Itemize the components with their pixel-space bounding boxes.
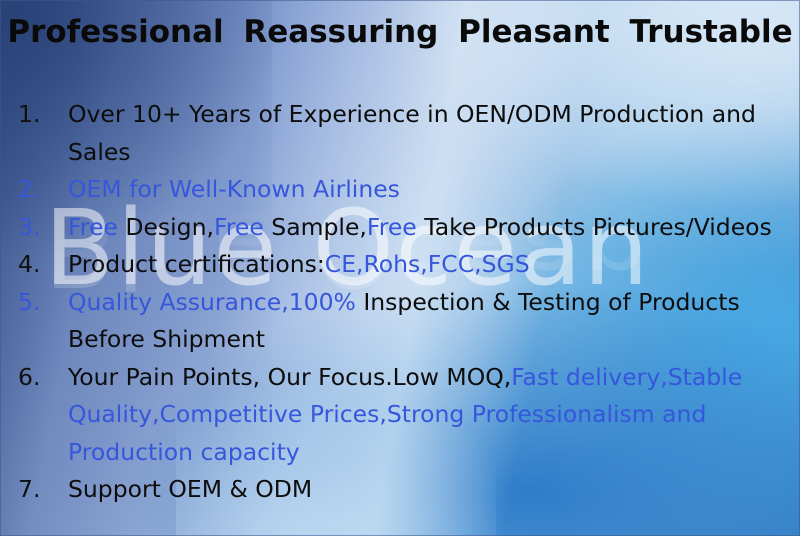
- list-item-text-segment: Free: [68, 213, 118, 241]
- list-item-number: 3.: [18, 209, 52, 247]
- list-item-text-segment: Take Products Pictures/Videos: [417, 213, 772, 241]
- list-item: 3.Free Design,Free Sample,Free Take Prod…: [0, 209, 800, 247]
- list-item: 7.Support OEM & ODM: [0, 471, 800, 509]
- list-item: 1.Over 10+ Years of Experience in OEN/OD…: [0, 96, 800, 171]
- list-item-text-segment: Sample,: [264, 213, 367, 241]
- list-item-text: Free Design,Free Sample,Free Take Produc…: [68, 213, 772, 241]
- list-item-number: 7.: [18, 471, 52, 509]
- list-item-text-segment: Quality Assurance,: [68, 288, 289, 316]
- presentation-slide: Blue Ocean Blue Ocean Professional Reass…: [0, 0, 800, 536]
- list-item-number: 4.: [18, 246, 52, 284]
- feature-list: 1.Over 10+ Years of Experience in OEN/OD…: [0, 96, 800, 509]
- list-item-text: Support OEM & ODM: [68, 475, 312, 503]
- list-item-text: Over 10+ Years of Experience in OEN/ODM …: [68, 100, 756, 166]
- list-item-text: Product certifications:CE,Rohs,FCC,SGS: [68, 250, 530, 278]
- list-item-number: 2.: [18, 171, 52, 209]
- list-item-text: OEM for Well-Known Airlines: [68, 175, 400, 203]
- list-item-text-segment: 100%: [289, 288, 356, 316]
- list-item-text-segment: Free: [214, 213, 264, 241]
- list-item-number: 1.: [18, 96, 52, 134]
- page-title: Professional Reassuring Pleasant Trustab…: [0, 14, 800, 50]
- list-item: 6.Your Pain Points, Our Focus.Low MOQ,Fa…: [0, 359, 800, 472]
- list-item: 2.OEM for Well-Known Airlines: [0, 171, 800, 209]
- list-item-text-segment: CE,Rohs,FCC,SGS: [325, 250, 530, 278]
- list-item: 5.Quality Assurance,100% Inspection & Te…: [0, 284, 800, 359]
- list-item: 4.Product certifications:CE,Rohs,FCC,SGS: [0, 246, 800, 284]
- slide-content: Professional Reassuring Pleasant Trustab…: [0, 0, 800, 536]
- list-item-text-segment: Design,: [118, 213, 214, 241]
- list-item-text: Quality Assurance,100% Inspection & Test…: [68, 288, 740, 354]
- list-item-text-segment: Over 10+ Years of Experience in OEN/ODM …: [68, 100, 756, 166]
- list-item-text: Your Pain Points, Our Focus.Low MOQ,Fast…: [68, 363, 742, 466]
- list-item-text-segment: Free: [367, 213, 417, 241]
- list-item-text-segment: Product certifications:: [68, 250, 325, 278]
- list-item-number: 6.: [18, 359, 52, 397]
- list-item-text-segment: Your Pain Points, Our Focus.Low MOQ,: [68, 363, 511, 391]
- list-item-number: 5.: [18, 284, 52, 322]
- list-item-text-segment: OEM for Well-Known Airlines: [68, 175, 400, 203]
- list-item-text-segment: Support OEM & ODM: [68, 475, 312, 503]
